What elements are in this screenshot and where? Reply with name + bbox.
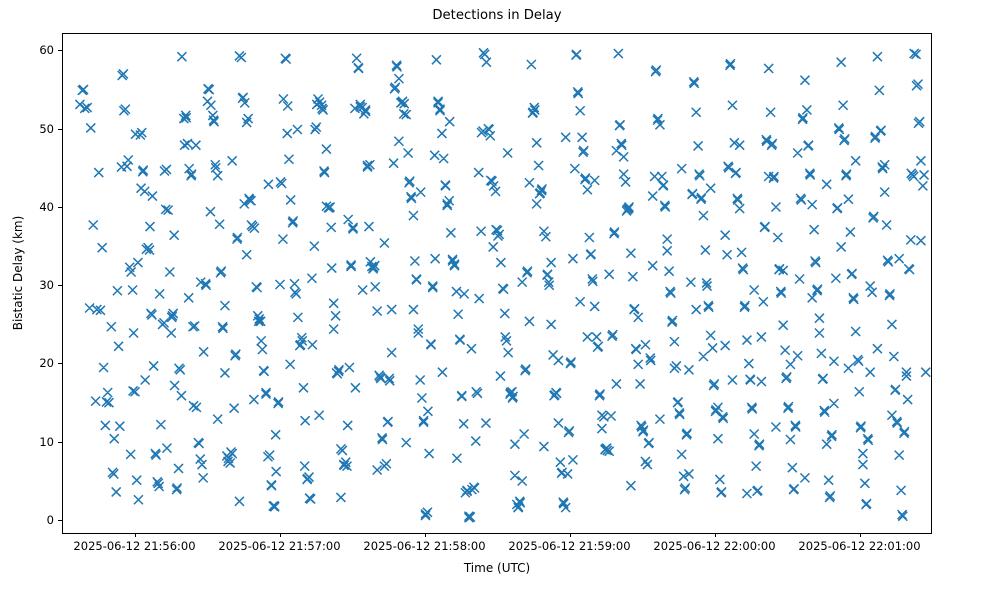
x-tick-label: 2025-06-12 22:01:00 [798,539,920,553]
plot-area [62,33,932,534]
x-tick-mark [425,533,426,537]
y-tick-mark [58,129,62,130]
x-tick-mark [715,533,716,537]
x-tick-mark [860,533,861,537]
x-tick-label: 2025-06-12 21:57:00 [218,539,340,553]
y-tick-label: 50 [14,122,54,136]
y-axis-label: Bistatic Delay (km) [11,173,25,373]
x-tick-mark [135,533,136,537]
matplotlib-figure: Detections in Delay 0102030405060 2025-0… [0,0,986,590]
y-tick-label: 60 [14,43,54,57]
y-tick-mark [58,520,62,521]
x-tick-label: 2025-06-12 22:00:00 [653,539,775,553]
x-axis-label: Time (UTC) [62,561,932,575]
x-tick-label: 2025-06-12 21:59:00 [508,539,630,553]
y-tick-mark [58,363,62,364]
page-title: Detections in Delay [62,8,932,24]
y-tick-mark [58,285,62,286]
scatter-points [75,48,930,522]
y-tick-label: 0 [14,513,54,527]
x-tick-mark [570,533,571,537]
x-tick-mark [280,533,281,537]
scatter-series [63,34,932,534]
x-tick-label: 2025-06-12 21:58:00 [363,539,485,553]
y-tick-mark [58,207,62,208]
y-tick-mark [58,442,62,443]
y-tick-mark [58,50,62,51]
y-tick-label: 10 [14,435,54,449]
x-tick-label: 2025-06-12 21:56:00 [73,539,195,553]
